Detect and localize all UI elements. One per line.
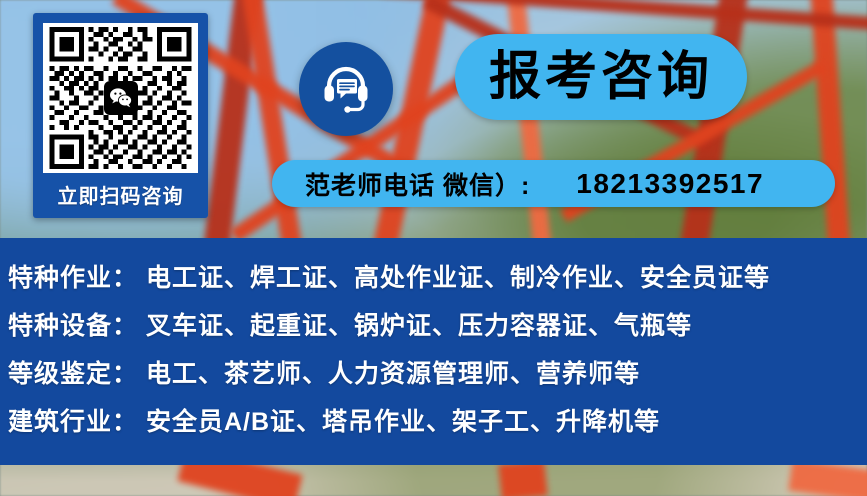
service-value: 电工、茶艺师、人力资源管理师、营养师等	[146, 354, 640, 390]
headset-support-badge[interactable]	[299, 42, 393, 136]
contact-phone-number[interactable]: 18213392517	[576, 168, 764, 200]
service-label: 等级鉴定：	[8, 354, 146, 390]
service-label: 建筑行业：	[8, 402, 146, 438]
service-value: 叉车证、起重证、锅炉证、压力容器证、气瓶等	[146, 306, 692, 342]
service-row: 特种作业： 电工证、焊工证、高处作业证、制冷作业、安全员证等	[8, 258, 867, 294]
service-value: 电工证、焊工证、高处作业证、制冷作业、安全员证等	[146, 258, 770, 294]
contact-pill[interactable]: 范老师电话 微信）: 18213392517	[272, 160, 835, 207]
title-pill: 报考咨询	[455, 34, 747, 120]
ad-banner: 立即扫码咨询 报考咨询 范老师电话 微信）: 18213392517 特种	[0, 0, 867, 496]
service-list-panel: 特种作业： 电工证、焊工证、高处作业证、制冷作业、安全员证等 特种设备： 叉车证…	[0, 238, 867, 465]
contact-label: 范老师电话 微信）:	[305, 166, 530, 202]
qr-card-caption: 立即扫码咨询	[58, 180, 184, 209]
title-text: 报考咨询	[489, 51, 713, 103]
qr-code-image[interactable]	[43, 23, 198, 173]
headset-support-icon	[317, 60, 375, 118]
crane-beam	[498, 460, 548, 496]
qr-code-card[interactable]: 立即扫码咨询	[33, 13, 208, 218]
service-label: 特种作业：	[8, 258, 146, 294]
service-row: 建筑行业： 安全员A/B证、塔吊作业、架子工、升降机等	[8, 402, 867, 438]
service-label: 特种设备：	[8, 306, 146, 342]
service-row: 特种设备： 叉车证、起重证、锅炉证、压力容器证、气瓶等	[8, 306, 867, 342]
service-value: 安全员A/B证、塔吊作业、架子工、升降机等	[146, 402, 660, 438]
service-row: 等级鉴定： 电工、茶艺师、人力资源管理师、营养师等	[8, 354, 867, 390]
wechat-logo-icon	[104, 81, 138, 115]
